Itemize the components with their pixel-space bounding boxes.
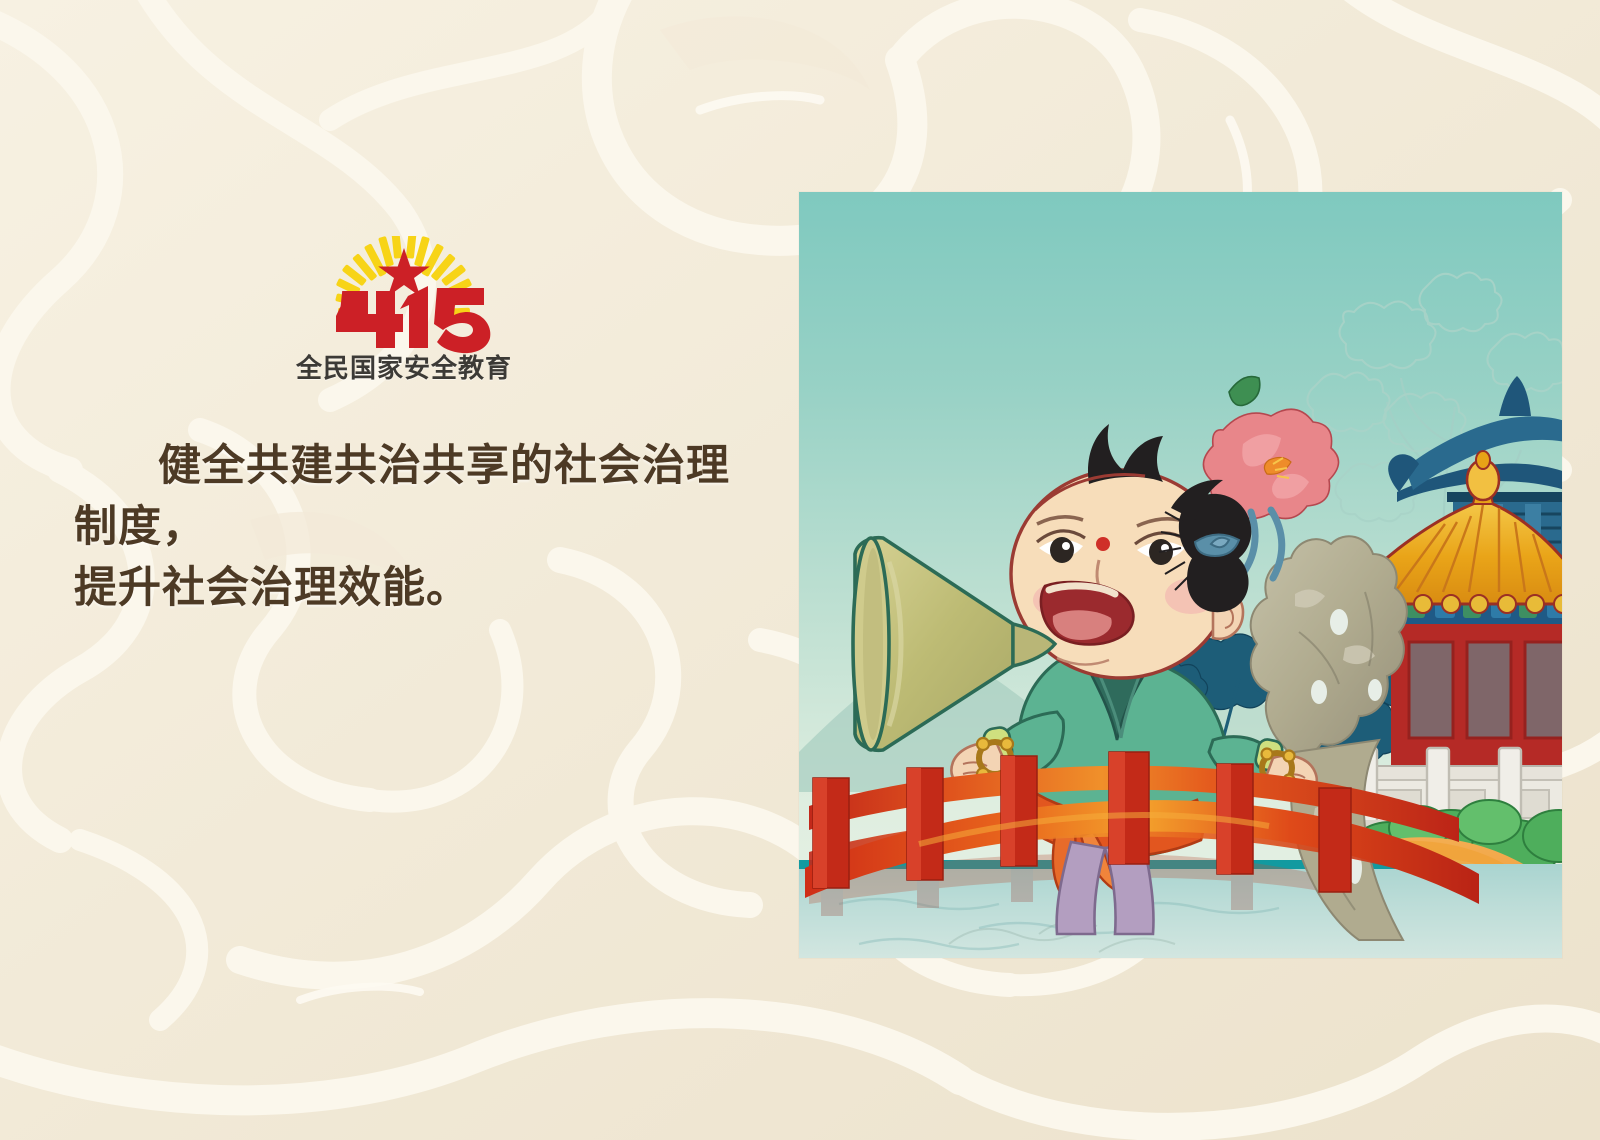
- poster-canvas: 全民国家安全教育 健全共建共治共享的社会治理制度， 提升社会治理效能。: [0, 0, 1600, 1140]
- headline-line-1: 健全共建共治共享的社会治理制度，: [74, 436, 764, 558]
- logo-caption: 全民国家安全教育: [296, 356, 512, 382]
- headline-line-2: 提升社会治理效能。: [74, 558, 764, 619]
- illustration-panel: [799, 192, 1562, 958]
- campaign-logo-415: 全民国家安全教育: [296, 236, 512, 382]
- page-headline: 健全共建共治共享的社会治理制度， 提升社会治理效能。: [74, 436, 764, 619]
